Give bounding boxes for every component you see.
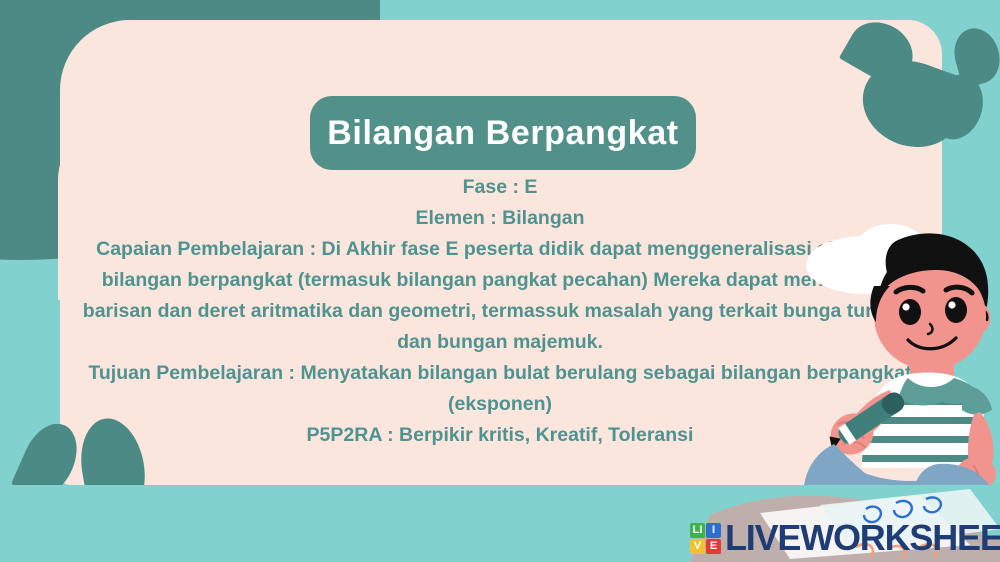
worksheet-canvas: Bilangan Berpangkat Fase : E Elemen : Bi…: [0, 0, 1000, 562]
liveworksheets-logo[interactable]: LI I V E LIVEWORKSHEETS: [690, 520, 1000, 556]
badge-letter-i: I: [706, 523, 721, 538]
text-line-fase: Fase : E: [62, 172, 938, 203]
boy-with-pencil-illustration: [790, 228, 1000, 508]
live-badge-icon: LI I V E: [690, 523, 721, 554]
badge-letter-l: LI: [690, 523, 705, 538]
badge-letter-v: V: [690, 539, 705, 554]
title-pill: Bilangan Berpangkat: [310, 96, 696, 170]
badge-letter-e: E: [706, 539, 721, 554]
logo-wordmark: LIVEWORKSHEETS: [725, 520, 1000, 556]
page-title: Bilangan Berpangkat: [327, 114, 678, 153]
